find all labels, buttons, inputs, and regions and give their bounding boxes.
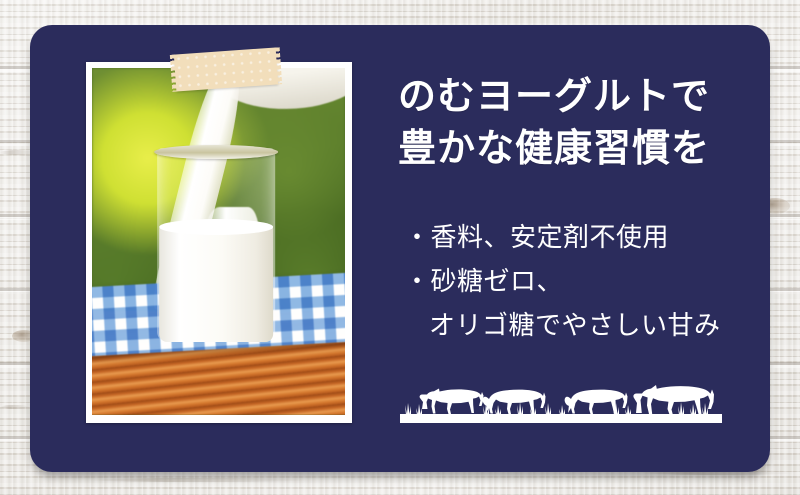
bullet-item-continuation: オリゴ糖でやさしい甘み — [404, 303, 721, 347]
feature-bullet-list: ・香料、安定剤不使用 ・砂糖ゼロ、 オリゴ糖でやさしい甘み — [404, 215, 721, 347]
wood-grain-streak — [0, 150, 34, 155]
bullet-item: ・香料、安定剤不使用 — [404, 215, 721, 259]
bullet-item: ・砂糖ゼロ、 — [404, 259, 721, 303]
milk-photo — [92, 68, 345, 415]
ground-bar — [400, 414, 722, 423]
photo-milk-fill — [159, 226, 273, 343]
photo-frame — [86, 62, 352, 423]
navy-card: のむヨーグルトで 豊かな健康習慣を ・香料、安定剤不使用 ・砂糖ゼロ、 オリゴ糖… — [30, 25, 770, 472]
headline: のむヨーグルトで 豊かな健康習慣を — [398, 71, 710, 175]
cow-silhouette-4 — [633, 385, 714, 415]
cow-silhouette-3 — [565, 390, 628, 414]
photo-glass-rim — [154, 145, 278, 159]
banner-stage: のむヨーグルトで 豊かな健康習慣を ・香料、安定剤不使用 ・砂糖ゼロ、 オリゴ糖… — [0, 0, 800, 495]
wood-grain-streak — [0, 405, 30, 409]
cow-silhouette-scene — [400, 365, 730, 425]
washi-tape — [174, 47, 278, 91]
photo-milk-surface — [159, 219, 273, 235]
cow-silhouette-1 — [420, 389, 484, 415]
wood-grain-streak — [90, 478, 310, 482]
photo-milk-glass — [157, 148, 276, 342]
cow-silhouette-2 — [483, 390, 546, 414]
